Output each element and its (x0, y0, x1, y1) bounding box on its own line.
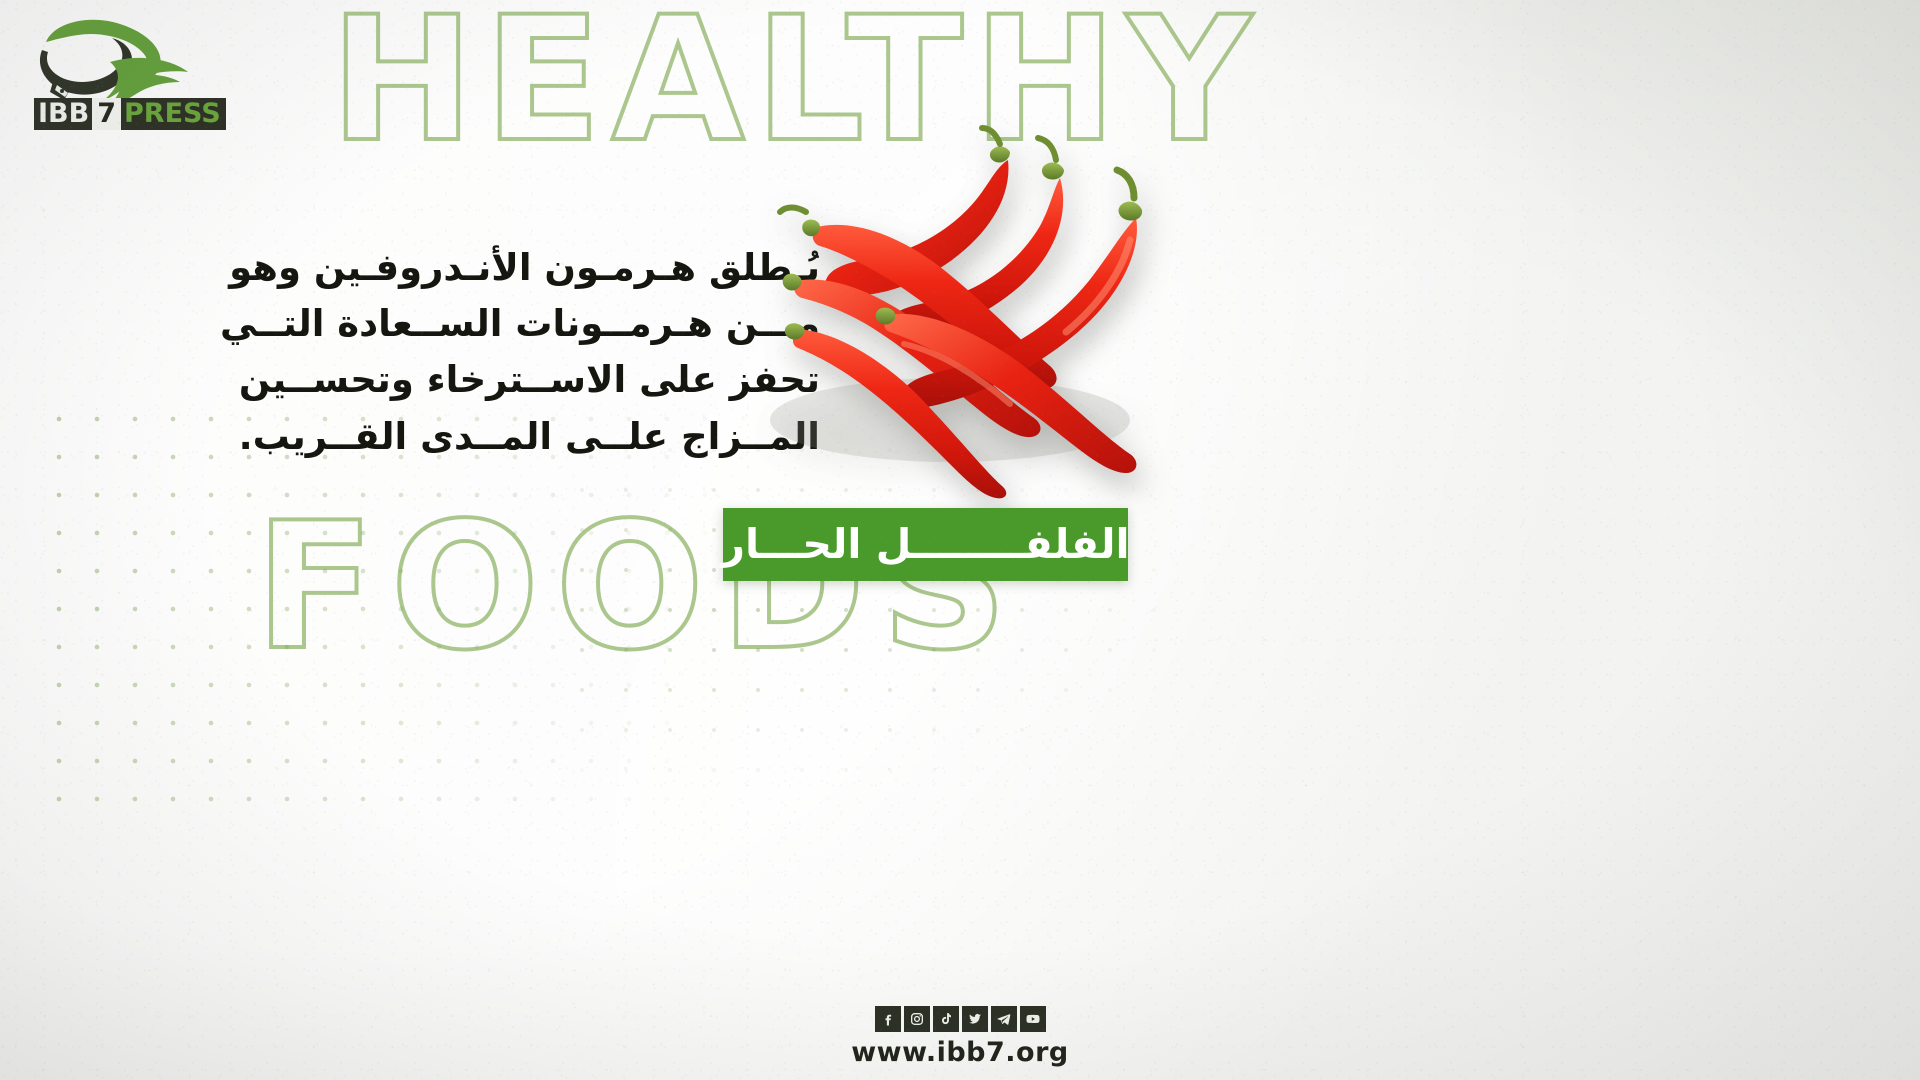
footer: www.ibb7.org (0, 1006, 1920, 1068)
food-name-label-text: الفلفــــــــل الحـــار (721, 524, 1129, 565)
website-url[interactable]: www.ibb7.org (851, 1037, 1069, 1068)
infographic-poster: HEALTHY FOODS IBB 7 PRESS يُـطلق هـرمـون… (0, 0, 1920, 1080)
instagram-icon[interactable] (904, 1006, 930, 1032)
ibb7press-swoosh-icon (24, 16, 224, 106)
facebook-icon[interactable] (875, 1006, 901, 1032)
youtube-icon[interactable] (1020, 1006, 1046, 1032)
tiktok-icon[interactable] (933, 1006, 959, 1032)
food-name-label: الفلفــــــــل الحـــار (723, 508, 1128, 581)
red-chili-peppers-illustration (690, 100, 1190, 500)
twitter-icon[interactable] (962, 1006, 988, 1032)
brand-wordmark-part3: PRESS (121, 98, 226, 130)
brand-wordmark: IBB 7 PRESS (34, 98, 226, 130)
brand-logo[interactable]: IBB 7 PRESS (24, 16, 224, 138)
telegram-icon[interactable] (991, 1006, 1017, 1032)
brand-wordmark-part2: 7 (92, 98, 121, 130)
chili-peppers-image (690, 100, 1190, 500)
social-links (875, 1006, 1046, 1032)
brand-wordmark-part1: IBB (34, 98, 92, 130)
